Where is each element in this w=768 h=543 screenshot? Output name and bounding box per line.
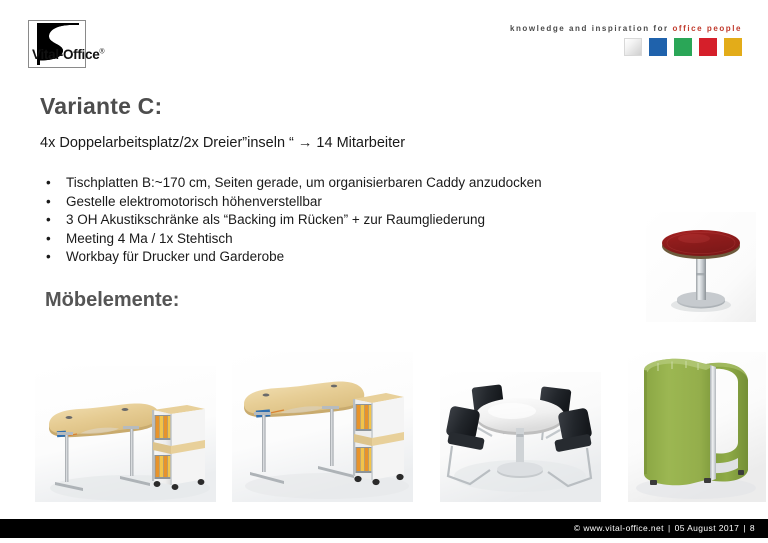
- list-item-label: Meeting 4 Ma / 1x Stehtisch: [66, 231, 233, 246]
- slide-canvas: Vital-Office® knowledge and inspiration …: [0, 0, 768, 543]
- swatch-green: [674, 38, 692, 56]
- list-item: •Meeting 4 Ma / 1x Stehtisch: [40, 230, 542, 249]
- bullet-marker: •: [46, 174, 51, 193]
- bullet-marker: •: [46, 211, 51, 230]
- footer-date: 05 August 2017: [675, 523, 740, 533]
- bullet-marker: •: [46, 193, 51, 212]
- page-title: Variante C:: [40, 93, 162, 120]
- list-item-label: Tischplatten B:~170 cm, Seiten gerade, u…: [66, 175, 542, 190]
- list-item-label: Workbay für Drucker und Garderobe: [66, 249, 284, 264]
- image-workbay-pod: [628, 352, 766, 502]
- image-desk-with-caddy-front: [35, 366, 216, 502]
- image-meeting-table: [440, 372, 601, 502]
- list-item: •3 OH Akustikschränke als “Backing im Rü…: [40, 211, 542, 230]
- tagline-accent: office people: [673, 24, 743, 33]
- swatch-yellow: [724, 38, 742, 56]
- footer-separator: |: [739, 523, 750, 533]
- list-item: •Gestelle elektromotorisch höhenverstell…: [40, 193, 542, 212]
- swatch-blue: [649, 38, 667, 56]
- footer-separator: |: [664, 523, 675, 533]
- logo-wordmark: Vital-Office®: [32, 47, 104, 62]
- header-tagline: knowledge and inspiration for office peo…: [510, 24, 742, 33]
- list-item-label: Gestelle elektromotorisch höhenverstellb…: [66, 194, 322, 209]
- swatch-red: [699, 38, 717, 56]
- list-item-label: 3 OH Akustikschränke als “Backing im Rüc…: [66, 212, 485, 227]
- list-item: •Tischplatten B:~170 cm, Seiten gerade, …: [40, 174, 542, 193]
- bullet-marker: •: [46, 230, 51, 249]
- vital-office-logo: Vital-Office®: [28, 20, 123, 66]
- swatch-white: [624, 38, 642, 56]
- image-standing-table: [646, 212, 756, 322]
- footer-page-number: 8: [750, 523, 755, 533]
- bullet-marker: •: [46, 248, 51, 267]
- list-item: •Workbay für Drucker und Garderobe: [40, 248, 542, 267]
- footer-bar: © www.vital-office.net|05 August 2017|8: [0, 519, 768, 538]
- brand-color-swatches: [624, 38, 742, 56]
- image-desk-with-caddy-angle: [232, 352, 413, 502]
- footer-meta: © www.vital-office.net|05 August 2017|8: [574, 523, 755, 533]
- footer-copyright: © www.vital-office.net: [574, 523, 664, 533]
- section-title-moebelemente: Möbelemente:: [45, 289, 179, 312]
- logo-trademark: ®: [99, 49, 104, 56]
- page-subtitle: 4x Doppelarbeitsplatz/2x Dreier”inseln “…: [40, 135, 405, 151]
- feature-bullet-list: •Tischplatten B:~170 cm, Seiten gerade, …: [40, 174, 542, 267]
